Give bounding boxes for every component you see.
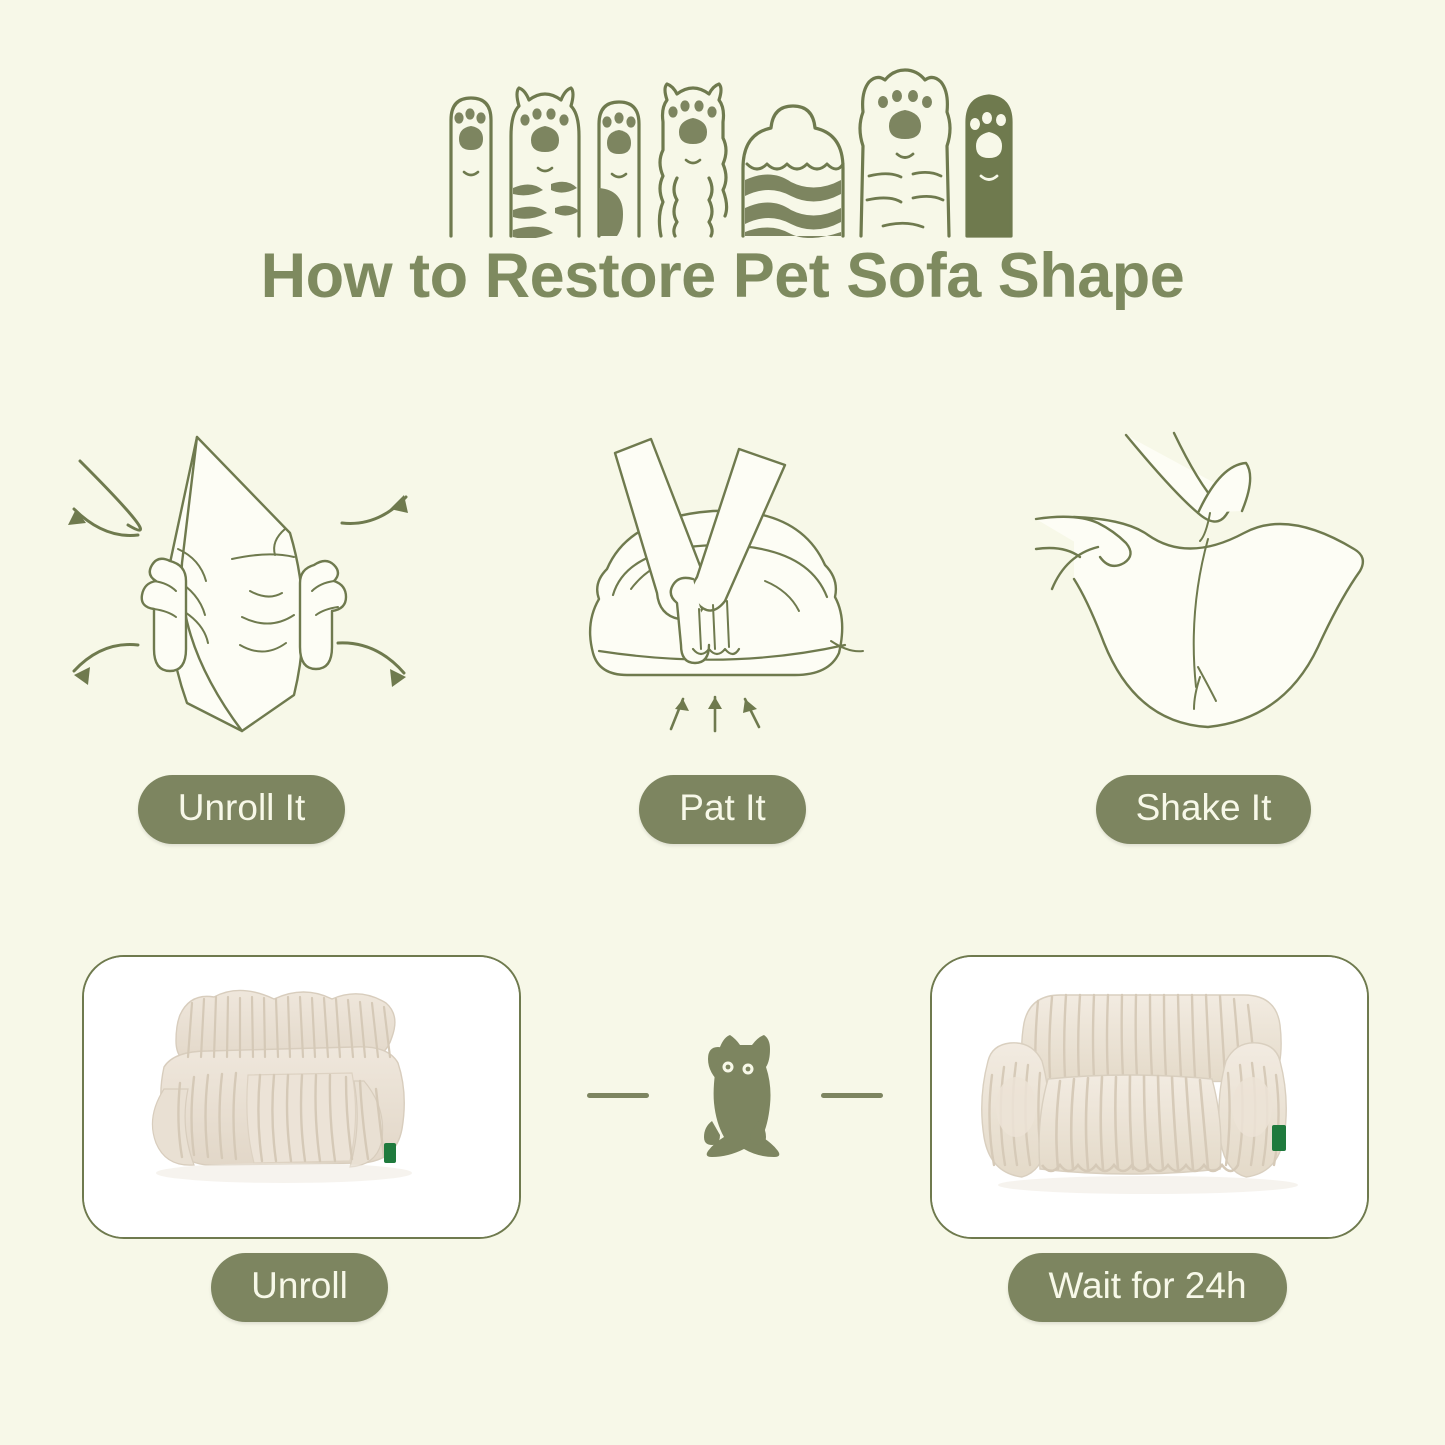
paw-7: [967, 96, 1011, 236]
restored-pet-sofa-photo: [932, 957, 1367, 1237]
comparison-separator: [517, 955, 952, 1235]
pill-cell-before: Unroll: [82, 1253, 517, 1322]
step-label-pat-it[interactable]: Pat It: [639, 775, 805, 844]
before-product-card[interactable]: [82, 955, 521, 1239]
step-label-unroll-it[interactable]: Unroll It: [138, 775, 345, 844]
cat-wrap: [675, 1025, 795, 1165]
comparison-labels-row: Unroll Wait for 24h: [0, 1253, 1445, 1323]
paw-4: [659, 84, 726, 236]
pill-cell-2: Pat It: [482, 775, 963, 844]
hands-patting-cushion-icon: [553, 413, 893, 753]
paw-6: [860, 70, 950, 236]
dash-icon-right: [821, 1093, 883, 1098]
paw-2: [511, 88, 579, 238]
step-illustration-shake-it: [963, 408, 1444, 758]
product-comparison-row: [0, 955, 1445, 1245]
steps-illustration-row: [0, 408, 1445, 758]
step-illustration-unroll-it: [1, 408, 482, 758]
paw-banner: [0, 58, 1445, 238]
comparison-label-wait-24h[interactable]: Wait for 24h: [1008, 1253, 1286, 1322]
step-labels-row: Unroll It Pat It Shake It: [0, 775, 1445, 844]
pill-cell-after: Wait for 24h: [930, 1253, 1365, 1322]
paw-3: [599, 102, 639, 236]
pill-cell-1: Unroll It: [1, 775, 482, 844]
paw-1: [451, 98, 491, 236]
paw-5: [743, 106, 843, 238]
hands-shaking-fabric-icon: [1014, 413, 1394, 753]
pill-cell-3: Shake It: [963, 775, 1444, 844]
cat-paws-row-icon: [433, 58, 1013, 238]
comparison-label-unroll[interactable]: Unroll: [211, 1253, 388, 1322]
infographic-page: How to Restore Pet Sofa Shape: [0, 0, 1445, 1445]
page-title: How to Restore Pet Sofa Shape: [0, 243, 1445, 309]
step-label-shake-it[interactable]: Shake It: [1096, 775, 1312, 844]
after-product-card[interactable]: [930, 955, 1369, 1239]
dash-icon-left: [587, 1093, 649, 1098]
compressed-pet-sofa-photo: [84, 957, 519, 1237]
hands-unrolling-sofa-icon: [42, 413, 442, 753]
sitting-cat-silhouette-icon: [676, 1025, 794, 1165]
step-illustration-pat-it: [482, 408, 963, 758]
